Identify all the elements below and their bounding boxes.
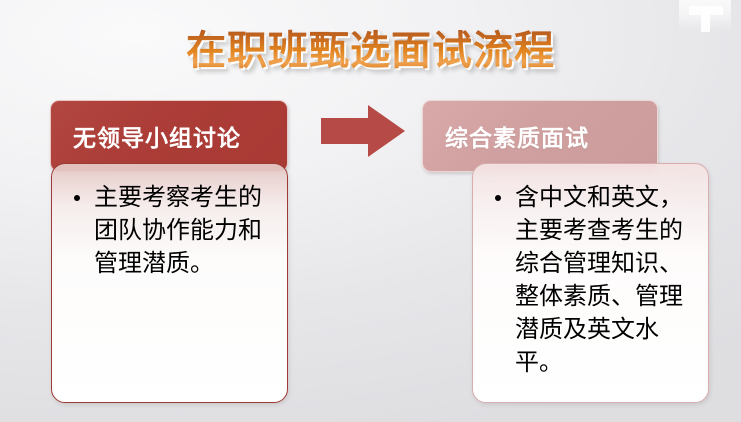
page-title: 在职班甄选面试流程 [0, 28, 741, 74]
list-item: 主要考察考生的团队协作能力和管理潜质。 [70, 181, 277, 280]
flow-step-2-header[interactable]: 综合素质面试 [422, 100, 658, 172]
flow-step-2-bullet-list: 含中文和英文，主要考查考生的综合管理知识、整体素质、管理潜质及英文水平。 [473, 164, 708, 379]
flow-step-1-bullet-list: 主要考察考生的团队协作能力和管理潜质。 [52, 164, 287, 280]
slide-canvas: 在职班甄选面试流程 无领导小组讨论 主要考察考生的团队协作能力和管理潜质。 综合… [0, 0, 741, 422]
flow-step-2-header-label: 综合素质面试 [445, 119, 589, 153]
flow-step-1-header-label: 无领导小组讨论 [73, 119, 241, 153]
flow-step-2-body: 含中文和英文，主要考查考生的综合管理知识、整体素质、管理潜质及英文水平。 [472, 163, 709, 403]
right-arrow-icon [321, 105, 405, 157]
flow-step-1-body: 主要考察考生的团队协作能力和管理潜质。 [51, 163, 288, 403]
list-item: 含中文和英文，主要考查考生的综合管理知识、整体素质、管理潜质及英文水平。 [491, 181, 698, 379]
flow-step-1-header[interactable]: 无领导小组讨论 [50, 100, 288, 172]
